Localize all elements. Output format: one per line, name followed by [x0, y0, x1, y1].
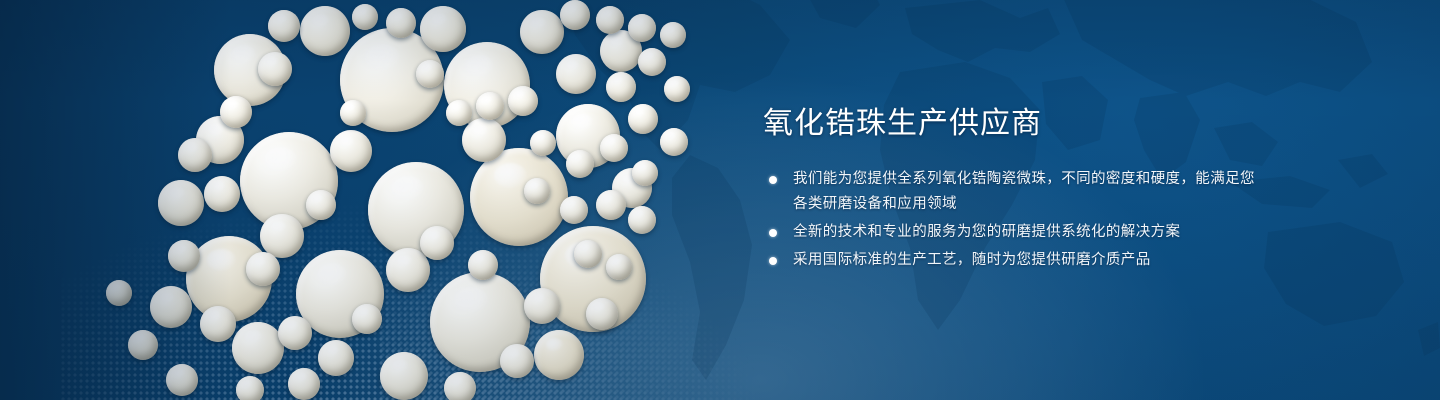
feature-text: 全新的技术和专业的服务为您的研磨提供系统化的解决方案 [793, 224, 1180, 240]
feature-list-item: 我们能为您提供全系列氧化锆陶瓷微珠，不同的密度和硬度，能满足您各类研磨设备和应用… [763, 167, 1263, 217]
feature-text: 采用国际标准的生产工艺，随时为您提供研磨介质产品 [793, 252, 1151, 268]
feature-list-item: 全新的技术和专业的服务为您的研磨提供系统化的解决方案 [763, 220, 1263, 245]
bullet-dot-icon [769, 176, 777, 184]
hero-banner: 氧化锆珠生产供应商 我们能为您提供全系列氧化锆陶瓷微珠，不同的密度和硬度，能满足… [0, 0, 1440, 400]
bullet-dot-icon [769, 229, 777, 237]
banner-content: 氧化锆珠生产供应商 我们能为您提供全系列氧化锆陶瓷微珠，不同的密度和硬度，能满足… [763, 105, 1263, 276]
banner-title: 氧化锆珠生产供应商 [763, 105, 1263, 143]
bullet-dot-icon [769, 257, 777, 265]
zirconia-bead-cluster-image [0, 0, 760, 400]
feature-list: 我们能为您提供全系列氧化锆陶瓷微珠，不同的密度和硬度，能满足您各类研磨设备和应用… [763, 167, 1263, 273]
feature-text: 我们能为您提供全系列氧化锆陶瓷微珠，不同的密度和硬度，能满足您各类研磨设备和应用… [793, 171, 1255, 212]
feature-list-item: 采用国际标准的生产工艺，随时为您提供研磨介质产品 [763, 248, 1263, 273]
